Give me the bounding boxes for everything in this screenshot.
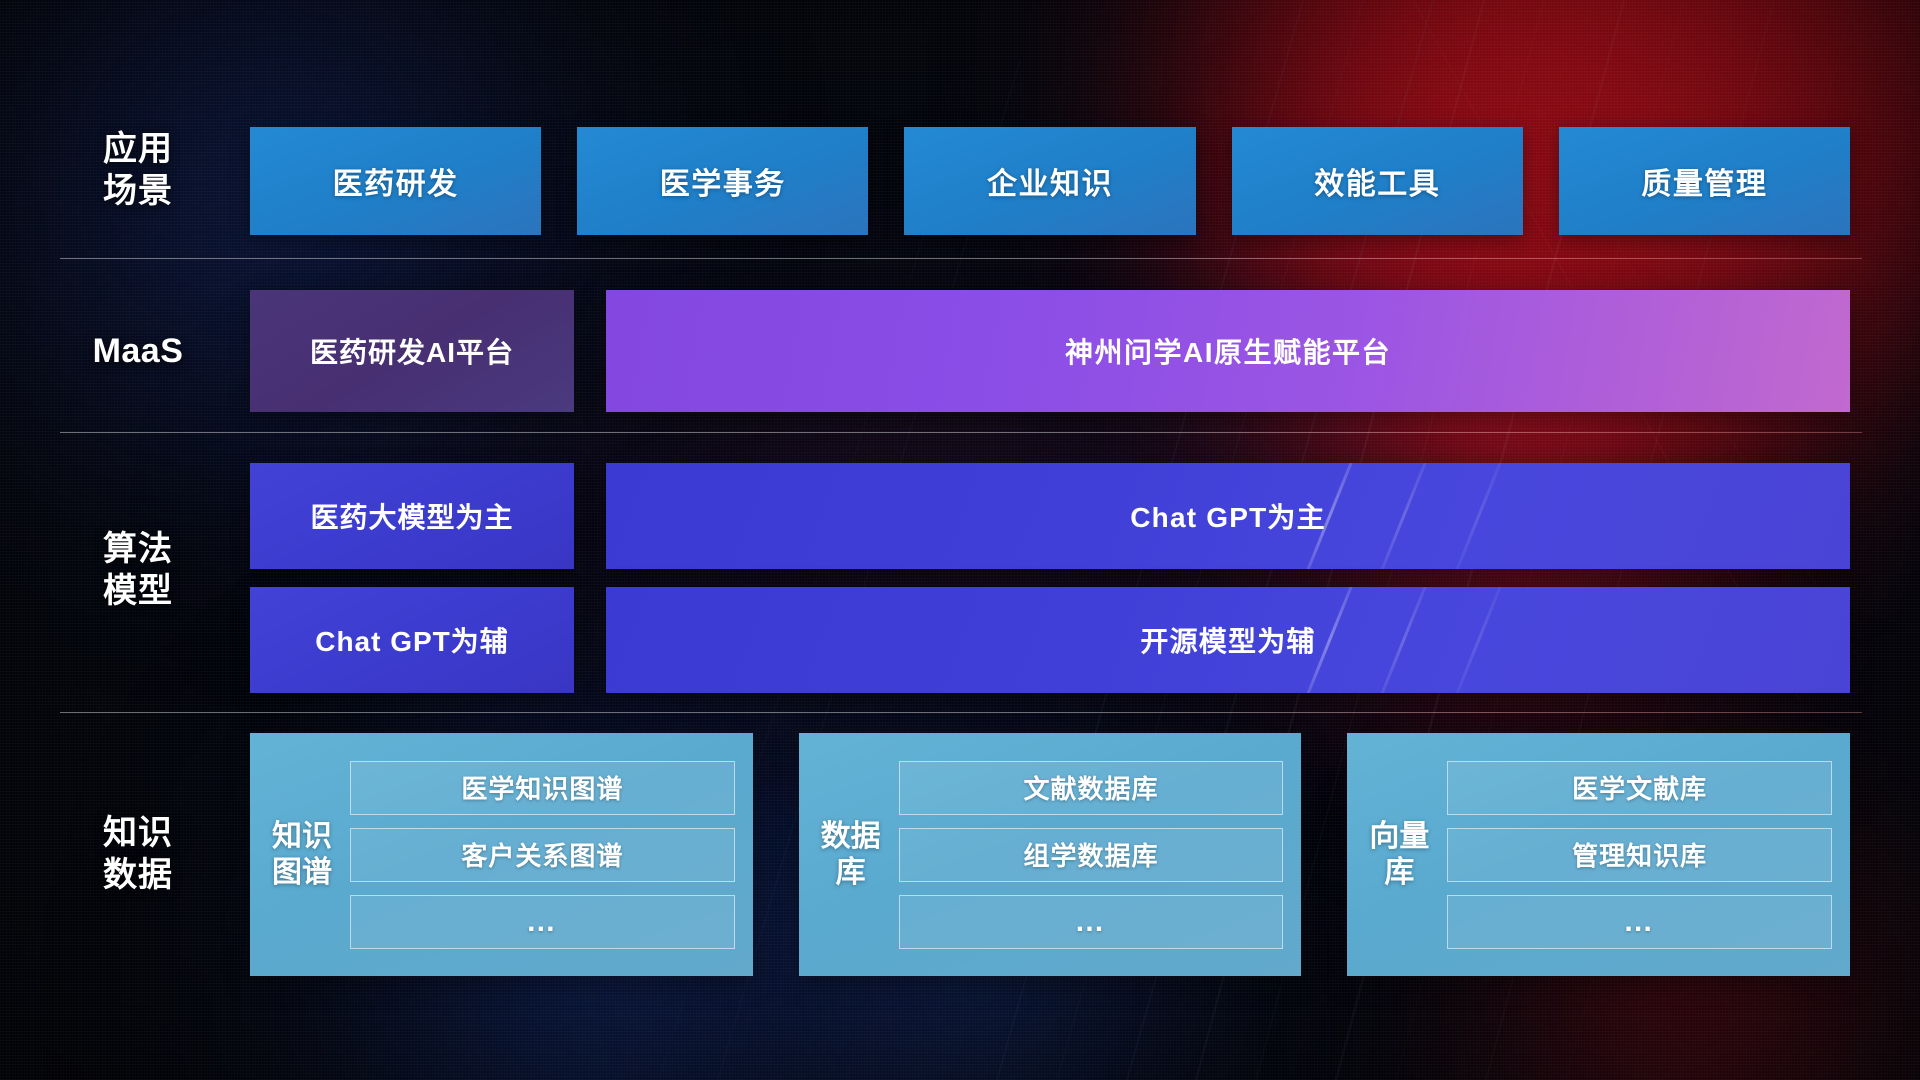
decorative-streak — [1441, 587, 1515, 693]
tier-label-line1: 应用 — [74, 128, 202, 170]
scene-card-label: 效能工具 — [1314, 159, 1440, 203]
scene-card-medical-affairs[interactable]: 医学事务 — [577, 127, 868, 235]
maas-row: 医药研发AI平台 神州问学AI原生赋能平台 — [250, 290, 1850, 412]
knowledge-panel-database: 数据库 文献数据库 组学数据库 … — [799, 733, 1302, 976]
maas-card-shenzhou-wenxue-platform[interactable]: 神州问学AI原生赋能平台 — [606, 290, 1850, 412]
scene-card-label: 企业知识 — [987, 159, 1113, 203]
knowledge-item-more[interactable]: … — [899, 895, 1284, 949]
algorithm-row-primary: 医药大模型为主 Chat GPT为主 — [250, 463, 1850, 569]
algorithm-model-rows: 医药大模型为主 Chat GPT为主 Chat GPT为辅 开源模型为辅 — [250, 463, 1850, 693]
knowledge-item[interactable]: 医学知识图谱 — [350, 761, 735, 815]
scene-card-enterprise-knowledge[interactable]: 企业知识 — [904, 127, 1195, 235]
knowledge-data-row: 知识图谱 医学知识图谱 客户关系图谱 … 数据库 文献数据库 组学数据库 … 向… — [250, 733, 1850, 976]
knowledge-panel-title: 向量库 — [1365, 749, 1433, 960]
application-scenario-row: 医药研发 医学事务 企业知识 效能工具 质量管理 — [250, 127, 1850, 235]
scene-card-label: 医药研发 — [333, 159, 459, 203]
algo-card-label: 开源模型为辅 — [1140, 620, 1315, 660]
knowledge-panel-items: 医学知识图谱 客户关系图谱 … — [336, 749, 735, 960]
scene-card-medicine-rnd[interactable]: 医药研发 — [250, 127, 541, 235]
knowledge-panel-title: 数据库 — [817, 749, 885, 960]
tier-label-line2: 数据 — [74, 854, 202, 896]
decorative-streak — [1367, 587, 1441, 693]
knowledge-item[interactable]: 管理知识库 — [1447, 828, 1832, 882]
divider-2 — [60, 432, 1862, 433]
tier-label-line2: 场景 — [74, 170, 202, 212]
knowledge-panel-items: 文献数据库 组学数据库 … — [885, 749, 1284, 960]
knowledge-item[interactable]: 医学文献库 — [1447, 761, 1832, 815]
knowledge-panel-knowledge-graph: 知识图谱 医学知识图谱 客户关系图谱 … — [250, 733, 753, 976]
algo-card-pharma-llm-primary[interactable]: 医药大模型为主 — [250, 463, 574, 569]
divider-1 — [60, 258, 1862, 259]
algo-card-label: Chat GPT为主 — [1130, 496, 1326, 536]
divider-3 — [60, 712, 1862, 713]
tier-label-line1: 算法 — [74, 528, 202, 570]
scene-card-quality-management[interactable]: 质量管理 — [1559, 127, 1850, 235]
tier-label-algorithm-models: 算法 模型 — [74, 528, 202, 612]
tier-label-application-scenarios: 应用 场景 — [74, 128, 202, 212]
algo-card-chatgpt-secondary[interactable]: Chat GPT为辅 — [250, 587, 574, 693]
algo-card-chatgpt-primary[interactable]: Chat GPT为主 — [606, 463, 1850, 569]
tier-label-knowledge-data: 知识 数据 — [74, 812, 202, 896]
knowledge-panel-title: 知识图谱 — [268, 749, 336, 960]
knowledge-item-more[interactable]: … — [1447, 895, 1832, 949]
algo-card-label: Chat GPT为辅 — [315, 620, 509, 660]
knowledge-panel-vector-store: 向量库 医学文献库 管理知识库 … — [1347, 733, 1850, 976]
maas-card-label: 医药研发AI平台 — [310, 331, 514, 371]
tier-label-text: MaaS — [74, 330, 202, 372]
decorative-streak — [1441, 463, 1515, 569]
scene-card-label: 医学事务 — [660, 159, 786, 203]
knowledge-item[interactable]: 文献数据库 — [899, 761, 1284, 815]
maas-card-label: 神州问学AI原生赋能平台 — [1065, 331, 1391, 371]
scene-card-efficiency-tools[interactable]: 效能工具 — [1232, 127, 1523, 235]
knowledge-panel-items: 医学文献库 管理知识库 … — [1433, 749, 1832, 960]
decorative-streak — [1367, 463, 1441, 569]
tier-label-line1: 知识 — [74, 812, 202, 854]
algorithm-row-secondary: Chat GPT为辅 开源模型为辅 — [250, 587, 1850, 693]
maas-card-pharma-ai-platform[interactable]: 医药研发AI平台 — [250, 290, 574, 412]
knowledge-item-more[interactable]: … — [350, 895, 735, 949]
algo-card-label: 医药大模型为主 — [310, 496, 513, 536]
knowledge-item[interactable]: 客户关系图谱 — [350, 828, 735, 882]
algo-card-opensource-secondary[interactable]: 开源模型为辅 — [606, 587, 1850, 693]
knowledge-item[interactable]: 组学数据库 — [899, 828, 1284, 882]
tier-label-line2: 模型 — [74, 570, 202, 612]
architecture-diagram: 应用 场景 医药研发 医学事务 企业知识 效能工具 质量管理 MaaS 医药研发… — [0, 0, 1920, 1080]
tier-label-maas: MaaS — [74, 330, 202, 372]
scene-card-label: 质量管理 — [1641, 159, 1767, 203]
